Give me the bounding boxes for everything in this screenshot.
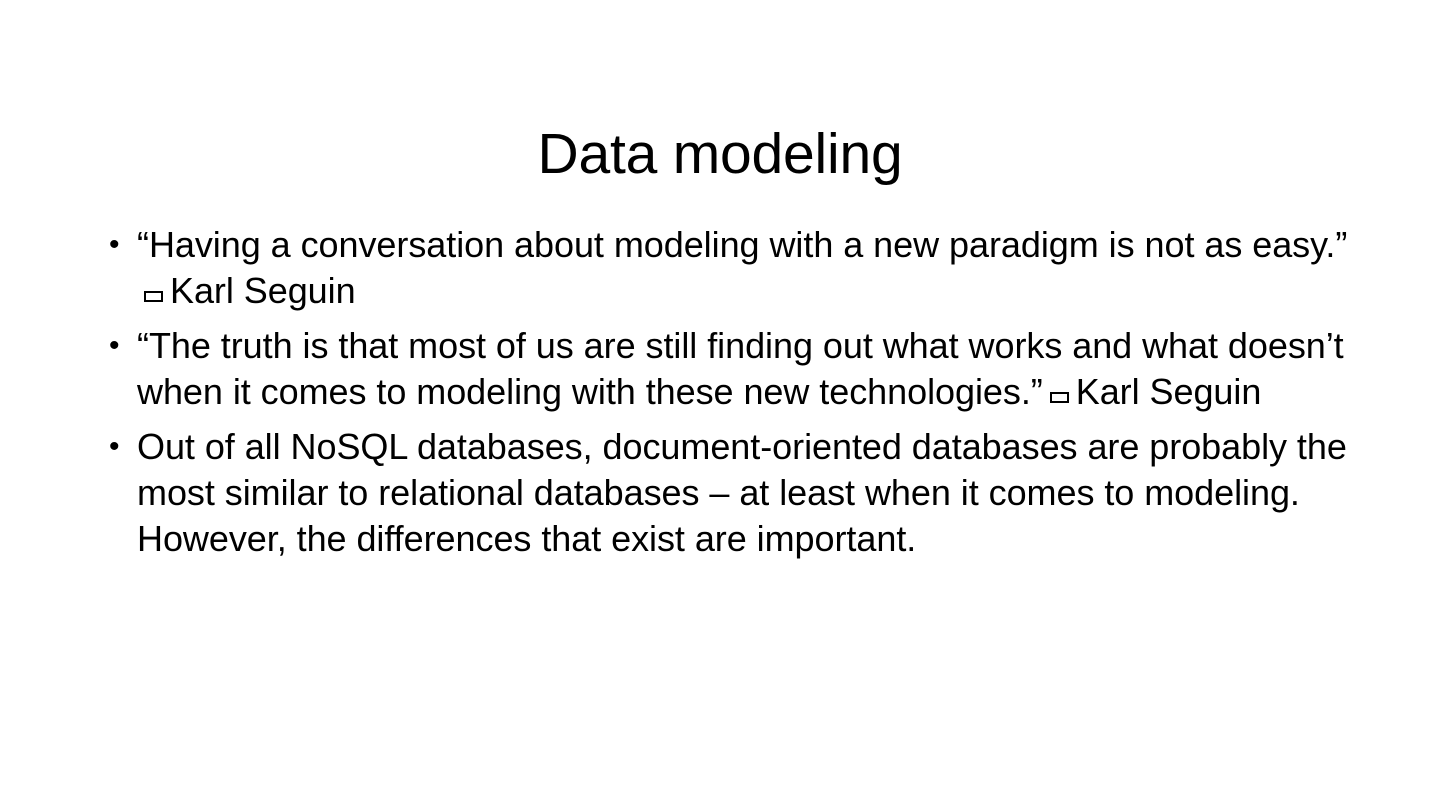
list-item: • “Having a conversation about modeling … — [104, 222, 1354, 314]
bullet-text: Out of all NoSQL databases, document-ori… — [137, 424, 1354, 562]
quote-text: “Having a conversation about modeling wi… — [137, 224, 1347, 265]
bullet-dot-icon: • — [109, 424, 131, 470]
missing-glyph-box-icon — [144, 291, 163, 302]
bullet-dot-icon: • — [109, 323, 131, 369]
presentation-slide: Data modeling • “Having a conversation a… — [0, 0, 1440, 810]
quote-attribution: Karl Seguin — [1076, 371, 1262, 412]
list-item: • “The truth is that most of us are stil… — [104, 323, 1354, 415]
list-item: • Out of all NoSQL databases, document-o… — [104, 424, 1354, 562]
slide-body-content: • “Having a conversation about modeling … — [104, 222, 1354, 562]
bullet-text: “Having a conversation about modeling wi… — [137, 222, 1354, 314]
page-title: Data modeling — [0, 124, 1440, 186]
missing-glyph-box-icon — [1050, 392, 1069, 403]
quote-attribution: Karl Seguin — [170, 270, 356, 311]
bullet-dot-icon: • — [109, 222, 131, 268]
bullet-text: “The truth is that most of us are still … — [137, 323, 1354, 415]
